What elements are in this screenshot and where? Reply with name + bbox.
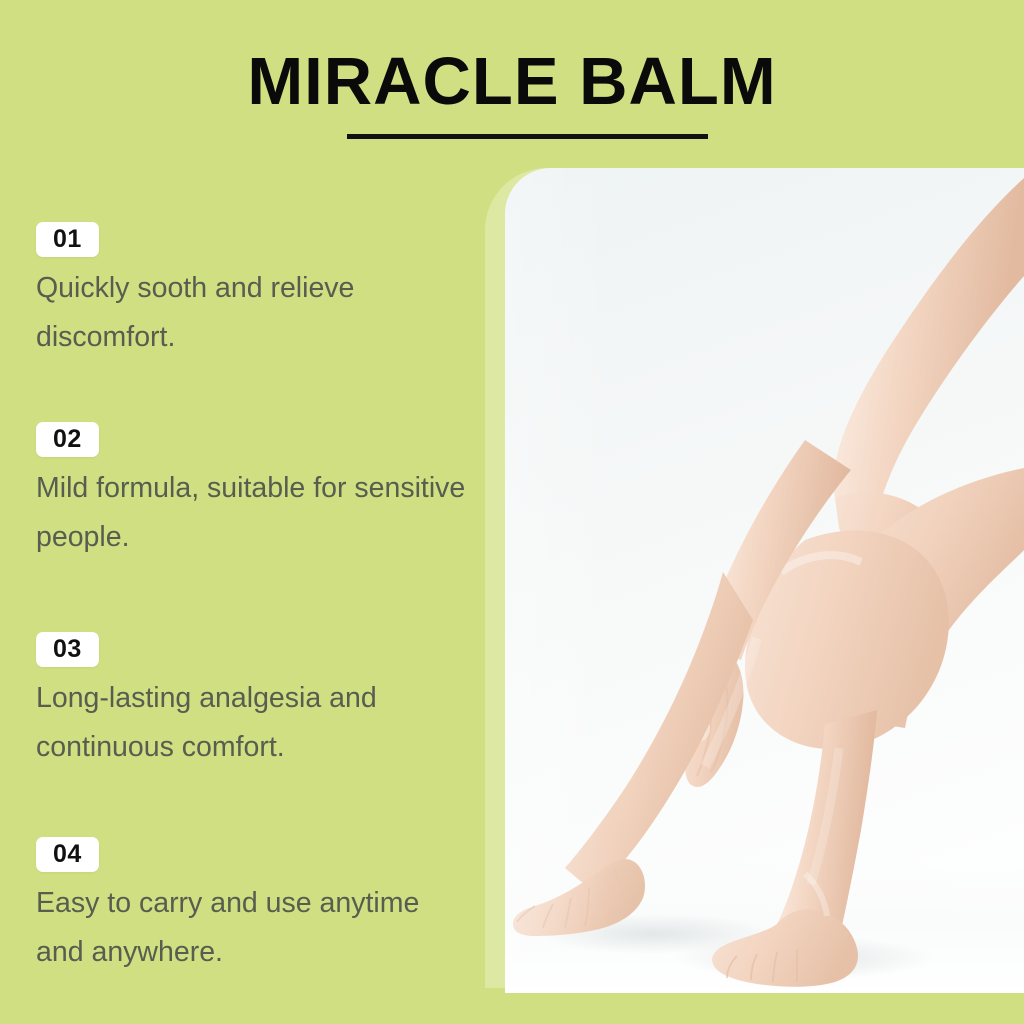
feature-text-04: Easy to carry and use anytime and anywhe… <box>36 879 466 977</box>
feature-item-04: 04 Easy to carry and use anytime and any… <box>36 837 466 977</box>
feature-text-02: Mild formula, suitable for sensitive peo… <box>36 464 466 562</box>
feature-number-badge-01: 01 <box>36 222 99 257</box>
page-title: MIRACLE BALM <box>0 48 1024 115</box>
feature-item-01: 01 Quickly sooth and relieve discomfort. <box>36 222 466 362</box>
feature-number-badge-04: 04 <box>36 837 99 872</box>
woman-legs-photo-illustration <box>505 168 1024 993</box>
feature-text-01: Quickly sooth and relieve discomfort. <box>36 264 466 362</box>
feature-item-03: 03 Long-lasting analgesia and continuous… <box>36 632 466 772</box>
feature-number-badge-02: 02 <box>36 422 99 457</box>
feature-number-badge-03: 03 <box>36 632 99 667</box>
product-photo-panel <box>505 168 1024 993</box>
page-title-block: MIRACLE BALM <box>0 48 1024 115</box>
feature-item-02: 02 Mild formula, suitable for sensitive … <box>36 422 466 562</box>
feature-text-03: Long-lasting analgesia and continuous co… <box>36 674 466 772</box>
poster-canvas: MIRACLE BALM <box>0 0 1024 1024</box>
title-underline-rule <box>347 134 708 139</box>
